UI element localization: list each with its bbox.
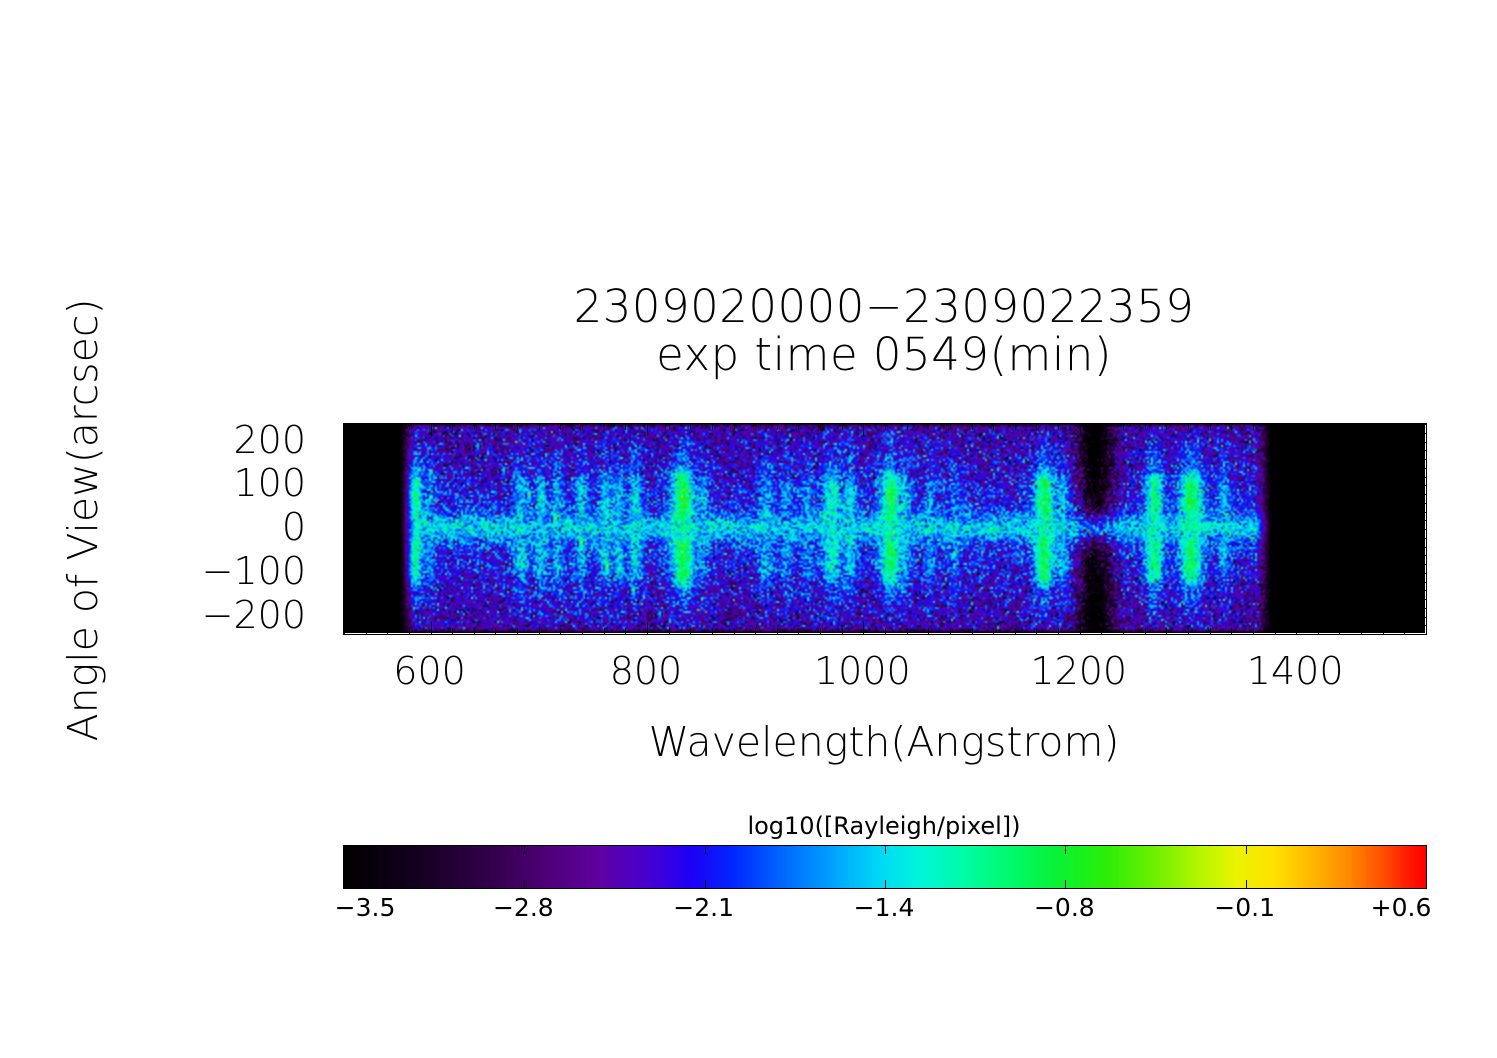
y-minor-tick	[344, 634, 354, 635]
y-axis-title: Angle of View(arcsec)	[59, 240, 107, 800]
colorbar-tick-label: −0.1	[1214, 893, 1275, 922]
colorbar-tick-label: −2.8	[493, 893, 554, 922]
spectrogram-image	[343, 423, 1425, 633]
colorbar-tick	[524, 846, 525, 854]
x-tick-label: 1200	[1030, 652, 1127, 690]
y-axis-tick-labels: 2001000−100−200	[0, 423, 328, 633]
y-tick-label: −100	[202, 552, 306, 590]
x-tick-label: 1000	[814, 652, 911, 690]
colorbar-tick-label: −2.1	[673, 893, 734, 922]
y-minor-tick	[1416, 634, 1426, 635]
y-tick-label: −200	[202, 596, 306, 634]
y-tick-label: 100	[233, 464, 306, 502]
colorbar-tick	[885, 880, 886, 888]
colorbar-tick	[524, 880, 525, 888]
colorbar-tick	[1065, 880, 1066, 888]
colorbar-tick	[1246, 846, 1247, 854]
colorbar-tick	[885, 846, 886, 854]
figure-root: 2309020000−2309022359 exp time 0549(min)…	[0, 0, 1497, 1058]
x-tick-label: 600	[393, 652, 466, 690]
x-tick-label: 800	[610, 652, 683, 690]
colorbar-tick	[1246, 880, 1247, 888]
page-title: 2309020000−2309022359 exp time 0549(min)	[343, 283, 1425, 378]
colorbar-tick	[705, 846, 706, 854]
colorbar-tick-label: +0.6	[1371, 893, 1432, 922]
x-minor-tick	[1426, 628, 1427, 634]
colorbar-tick-label: −3.5	[335, 893, 396, 922]
x-axis-tick-labels: 600800100012001400	[343, 652, 1425, 702]
title-line-1: 2309020000−2309022359	[343, 283, 1425, 331]
colorbar-tick-label: −1.4	[854, 893, 915, 922]
colorbar-tick	[1065, 846, 1066, 854]
colorbar-title: log10([Rayleigh/pixel])	[343, 812, 1425, 840]
title-line-2: exp time 0549(min)	[343, 331, 1425, 379]
colorbar-tick-labels: −3.5−2.8−2.1−1.4−0.8−0.1+0.6	[343, 893, 1425, 929]
y-tick-label: 200	[233, 421, 306, 459]
x-axis-title: Wavelength(Angstrom)	[343, 718, 1425, 766]
spectrogram-panel	[343, 423, 1425, 633]
colorbar-tick-label: −0.8	[1034, 893, 1095, 922]
colorbar-tick	[705, 880, 706, 888]
y-tick-label: 0	[282, 508, 306, 546]
x-minor-tick	[1426, 424, 1427, 430]
x-tick-label: 1400	[1247, 652, 1344, 690]
colorbar	[343, 845, 1427, 889]
